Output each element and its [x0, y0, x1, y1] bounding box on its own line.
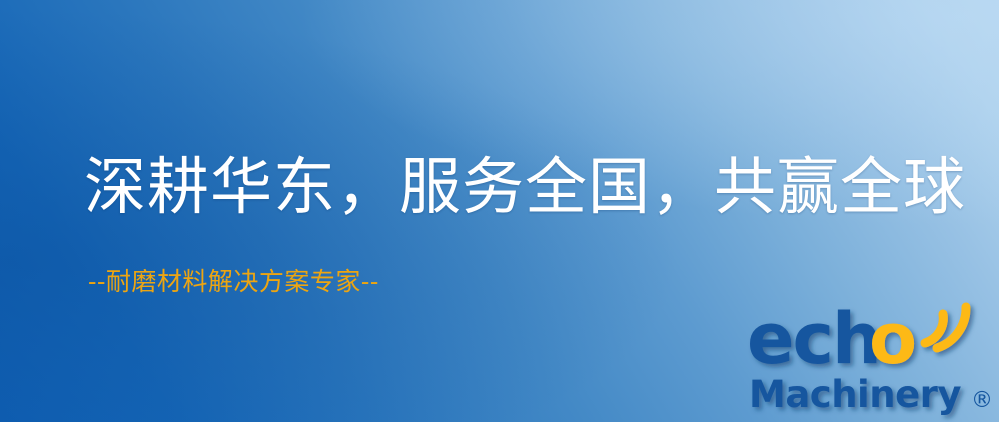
svg-text:ech: ech — [747, 298, 880, 380]
page-title: 深耕华东，服务全国，共赢全球 — [84, 152, 966, 221]
echo-machinery-logo[interactable]: ech o Machinery ® — [745, 296, 999, 422]
logo-wordmark-o: o — [869, 298, 917, 380]
banner-subtitle: --耐磨材料解决方案专家-- — [88, 267, 379, 297]
logo-wordmark-ech: ech — [747, 298, 880, 380]
svg-text:®: ® — [971, 388, 993, 413]
signal-arcs-icon — [925, 307, 966, 348]
trademark-symbol: ® — [971, 388, 993, 413]
svg-text:Machinery: Machinery — [749, 373, 961, 416]
hero-banner: 深耕华东，服务全国，共赢全球 --耐磨材料解决方案专家-- ech o — [0, 0, 999, 422]
svg-text:o: o — [869, 298, 917, 380]
logo-tagline: Machinery — [749, 373, 961, 416]
